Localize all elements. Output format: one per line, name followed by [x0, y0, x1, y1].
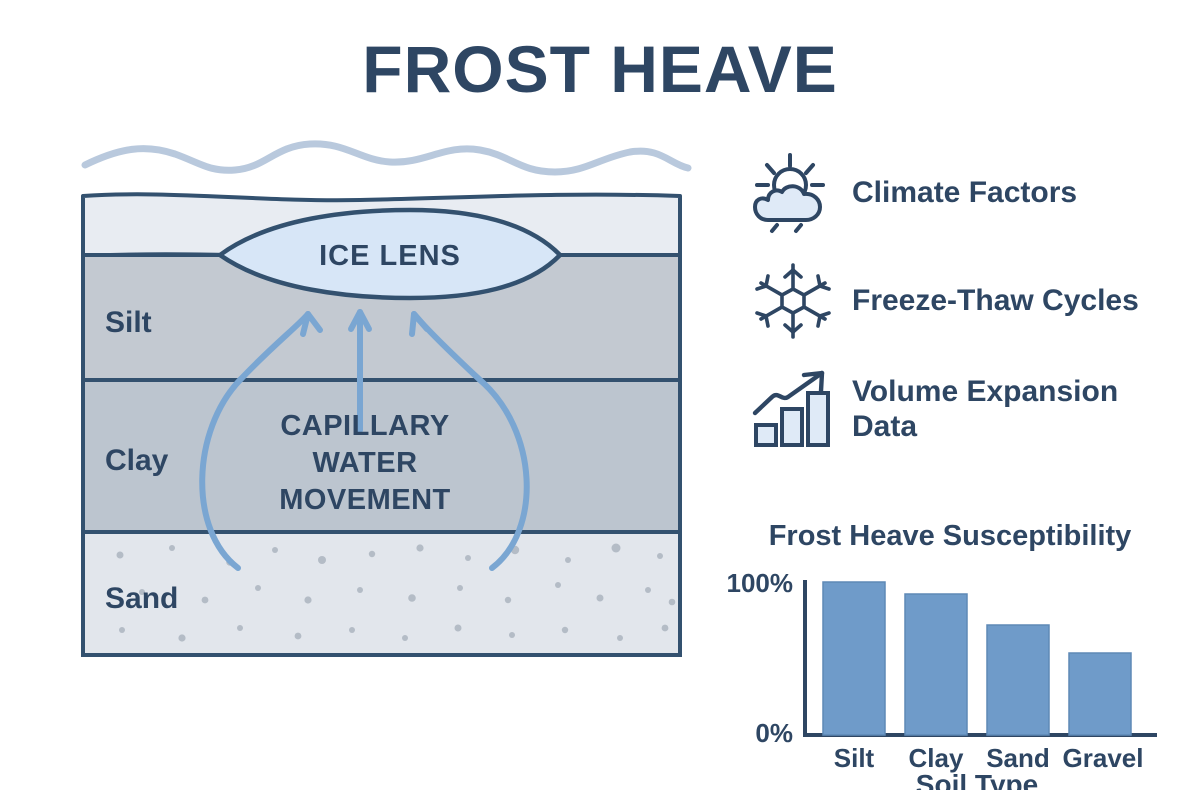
legend-item-volume-expansion-data[interactable]: Volume Expansion Data — [750, 366, 1190, 452]
soil-label-clay: Clay — [105, 444, 169, 477]
soil-label-sand: Sand — [105, 582, 178, 615]
ice-lens-label: ICE LENS — [319, 240, 461, 272]
chart-bars — [823, 582, 1131, 735]
soil-cross-section-diagram: ICE LENS Silt Clay Sand CAPILLARY WATER … — [60, 130, 710, 690]
snowflake-icon — [750, 258, 836, 344]
legend-item-climate-factors[interactable]: Climate Factors — [750, 150, 1190, 236]
legend-label-freeze-thaw-cycles: Freeze-Thaw Cycles — [836, 283, 1139, 318]
page-title: FROST HEAVE — [0, 36, 1200, 102]
chart-title: Frost Heave Susceptibility — [715, 520, 1185, 553]
ground-surface-wave — [85, 144, 688, 172]
x-axis-title: Soil Type — [916, 769, 1038, 790]
sun-cloud-icon — [750, 150, 836, 236]
capillary-line-2: WATER — [312, 447, 417, 479]
y-tick-0: 0% — [755, 718, 793, 748]
infographic-canvas: FROST HEAVE — [0, 0, 1200, 800]
factors-legend: Climate Factors — [750, 150, 1190, 474]
legend-item-freeze-thaw-cycles[interactable]: Freeze-Thaw Cycles — [750, 258, 1190, 344]
soil-label-silt: Silt — [105, 306, 152, 339]
bar-silt[interactable] — [823, 582, 885, 735]
capillary-line-3: MOVEMENT — [279, 484, 451, 516]
y-tick-100: 100% — [727, 568, 794, 598]
bar-gravel[interactable] — [1069, 653, 1131, 735]
bar-clay[interactable] — [905, 594, 967, 735]
frost-heave-susceptibility-chart: Frost Heave Susceptibility 100% 0% Silt … — [715, 520, 1185, 790]
capillary-line-1: CAPILLARY — [280, 410, 449, 442]
bar-sand[interactable] — [987, 625, 1049, 735]
legend-label-volume-expansion-data: Volume Expansion Data — [836, 374, 1190, 445]
legend-label-climate-factors: Climate Factors — [836, 175, 1077, 210]
x-label-silt: Silt — [834, 743, 875, 773]
growth-chart-icon — [750, 366, 836, 452]
x-label-gravel: Gravel — [1063, 743, 1144, 773]
